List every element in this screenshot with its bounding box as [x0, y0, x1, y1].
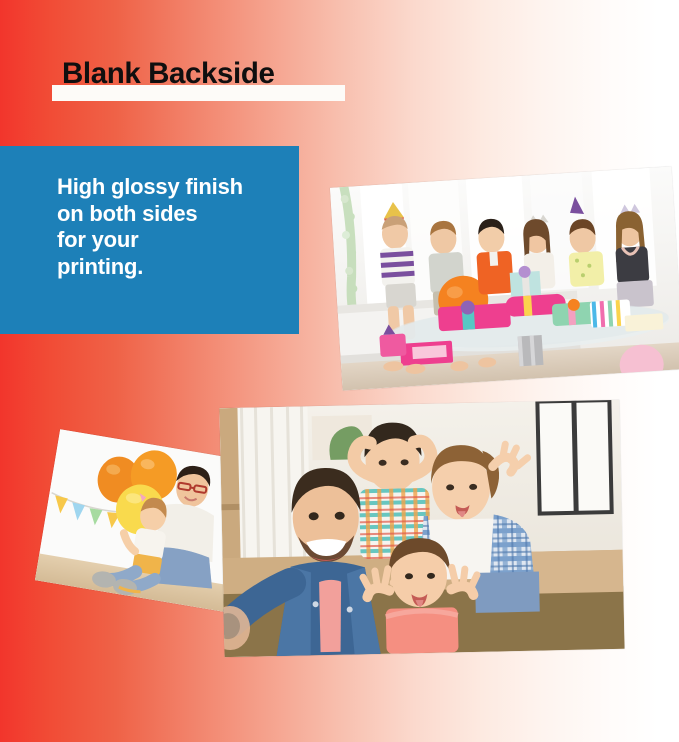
photo-kids-party	[330, 166, 679, 390]
photo-family-selfie-image	[219, 400, 624, 657]
feature-panel: High glossy finish on both sides for you…	[0, 146, 299, 334]
photo-kids-party-image	[330, 166, 679, 390]
marketing-banner: Blank Backside High glossy finish on bot…	[0, 0, 679, 742]
heading-block: Blank Backside	[52, 54, 452, 104]
photo-family-selfie	[219, 400, 624, 657]
feature-panel-text: High glossy finish on both sides for you…	[57, 174, 243, 280]
page-title: Blank Backside	[62, 54, 274, 94]
